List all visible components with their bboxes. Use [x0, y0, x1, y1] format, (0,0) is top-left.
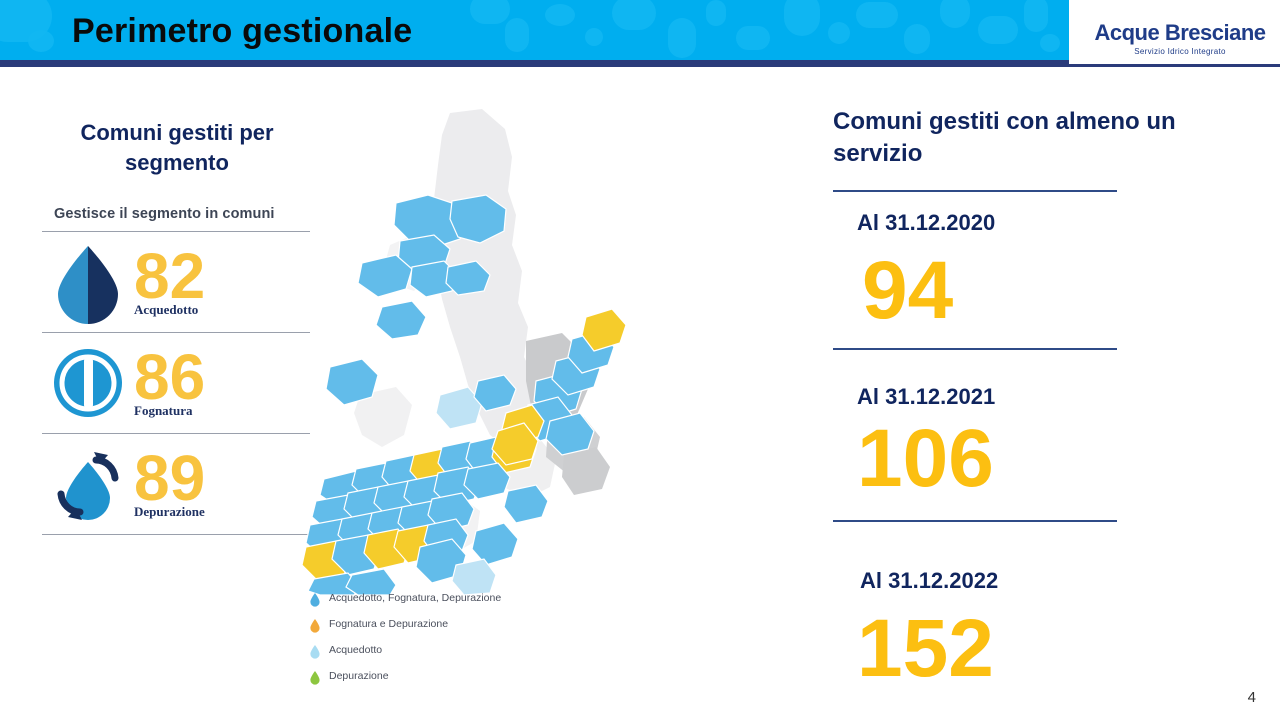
stat-value-2021: 106 — [857, 418, 994, 500]
legend-item: Depurazione — [310, 670, 600, 685]
stat-date-2021: Al 31.12.2021 — [857, 384, 995, 410]
stat-date-2022: Al 31.12.2022 — [860, 568, 998, 594]
water-drop-icon — [310, 671, 320, 685]
legend-label: Acquedotto, Fognatura, Depurazione — [329, 592, 501, 605]
logo-brand-text: Acque Bresciane — [1090, 20, 1270, 46]
slide-number: 4 — [1248, 689, 1256, 706]
segment-value-block: 89 Depurazione — [134, 448, 205, 521]
logo-tagline-text: Servizio Idrico Integrato — [1090, 47, 1270, 56]
legend-label: Acquedotto — [329, 644, 382, 657]
province-map — [300, 95, 630, 595]
segment-value: 82 — [134, 246, 205, 307]
header-white-strip — [0, 67, 1280, 71]
slide-header: Perimetro gestionale — [0, 0, 1069, 60]
segment-row-fognatura: 86 Fognatura — [42, 333, 310, 433]
recycle-drop-icon — [48, 442, 128, 526]
half-water-drop-icon — [48, 240, 128, 324]
segment-row-acquedotto: 82 Acquedotto — [42, 232, 310, 332]
segment-value-block: 82 Acquedotto — [134, 246, 205, 319]
right-panel-title: Comuni gestiti con almeno un servizio — [833, 106, 1233, 171]
pipe-circle-icon — [48, 341, 128, 425]
segment-label: Acquedotto — [134, 302, 205, 318]
water-drop-icon — [310, 645, 320, 659]
divider — [833, 520, 1117, 522]
map-legend: Acquedotto, Fognatura, Depurazione Fogna… — [310, 592, 600, 696]
header-bottom-rule — [0, 60, 1069, 67]
logo-underline — [1069, 64, 1280, 67]
stat-date-2020: Al 31.12.2020 — [857, 210, 995, 236]
segment-value-block: 86 Fognatura — [134, 347, 205, 420]
divider — [833, 190, 1117, 192]
segment-value: 86 — [134, 347, 205, 408]
water-drop-icon — [310, 593, 320, 607]
legend-item: Acquedotto, Fognatura, Depurazione — [310, 592, 600, 607]
company-logo: Acque Bresciane Servizio Idrico Integrat… — [1090, 20, 1270, 56]
divider — [833, 348, 1117, 350]
segment-stats-card: Gestisce il segmento in comuni 82 Acqued… — [42, 206, 310, 535]
legend-label: Depurazione — [329, 670, 389, 683]
segment-value: 89 — [134, 448, 205, 509]
legend-item: Acquedotto — [310, 644, 600, 659]
stat-value-2022: 152 — [857, 608, 994, 690]
legend-item: Fognatura e Depurazione — [310, 618, 600, 633]
legend-label: Fognatura e Depurazione — [329, 618, 448, 631]
left-panel-title: Comuni gestiti per segmento — [42, 118, 312, 177]
segment-row-depurazione: 89 Depurazione — [42, 434, 310, 534]
segment-label: Depurazione — [134, 504, 205, 520]
page-title: Perimetro gestionale — [72, 12, 412, 51]
segment-card-heading: Gestisce il segmento in comuni — [42, 206, 310, 231]
divider — [42, 534, 310, 535]
water-drop-icon — [310, 619, 320, 633]
stat-value-2020: 94 — [862, 250, 953, 332]
